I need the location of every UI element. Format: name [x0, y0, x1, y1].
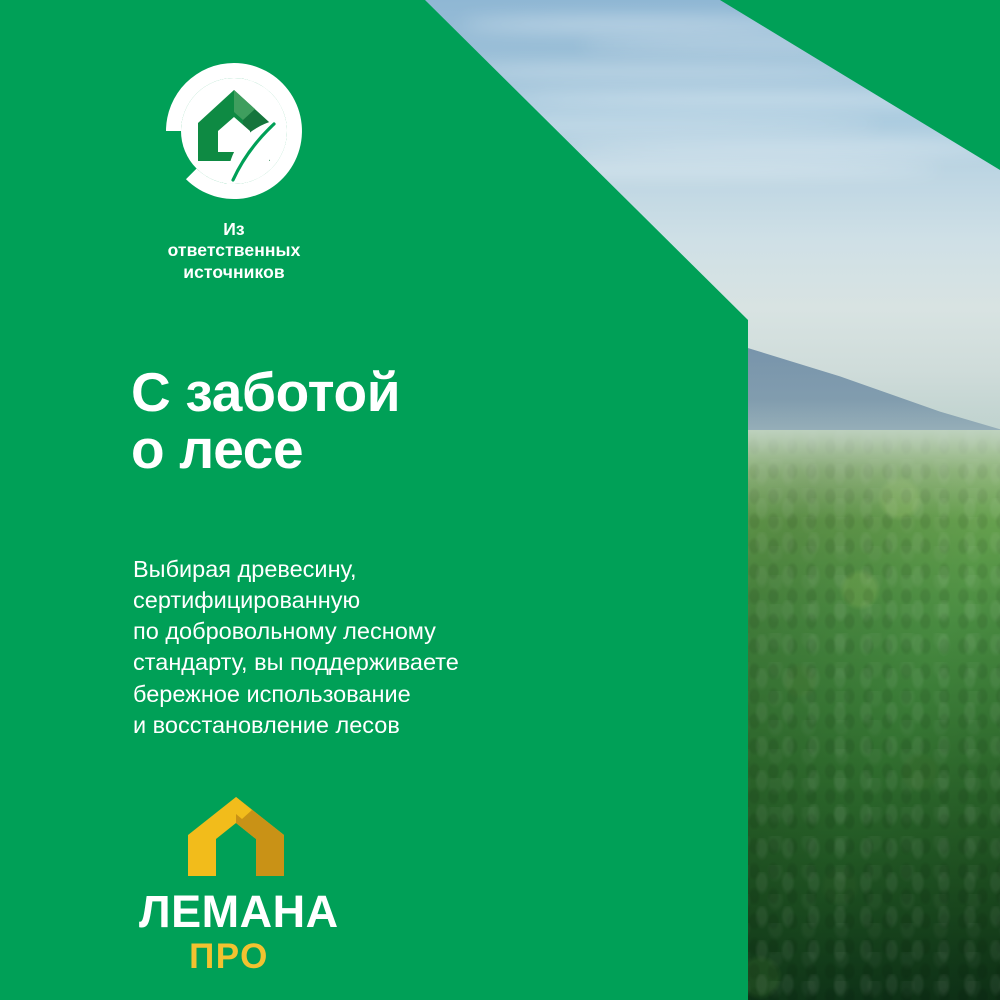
responsible-sources-house-leaf-logo-icon: [160, 57, 308, 205]
brand-logo: ЛЕМАНА ПРО: [139, 795, 319, 974]
body-paragraph: Выбирая древесину, сертифицированную по …: [133, 554, 459, 742]
poster-content: Из ответственных источников С заботой о …: [0, 0, 1000, 1000]
poster-root: Из ответственных источников С заботой о …: [0, 0, 1000, 1000]
brand-suffix: ПРО: [139, 939, 319, 974]
brand-name: ЛЕМАНА: [139, 889, 319, 934]
certification-badge: Из ответственных источников: [160, 57, 308, 283]
lemana-house-icon: [186, 795, 286, 878]
certification-badge-caption: Из ответственных источников: [160, 219, 308, 283]
page-title: С заботой о лесе: [131, 364, 400, 478]
